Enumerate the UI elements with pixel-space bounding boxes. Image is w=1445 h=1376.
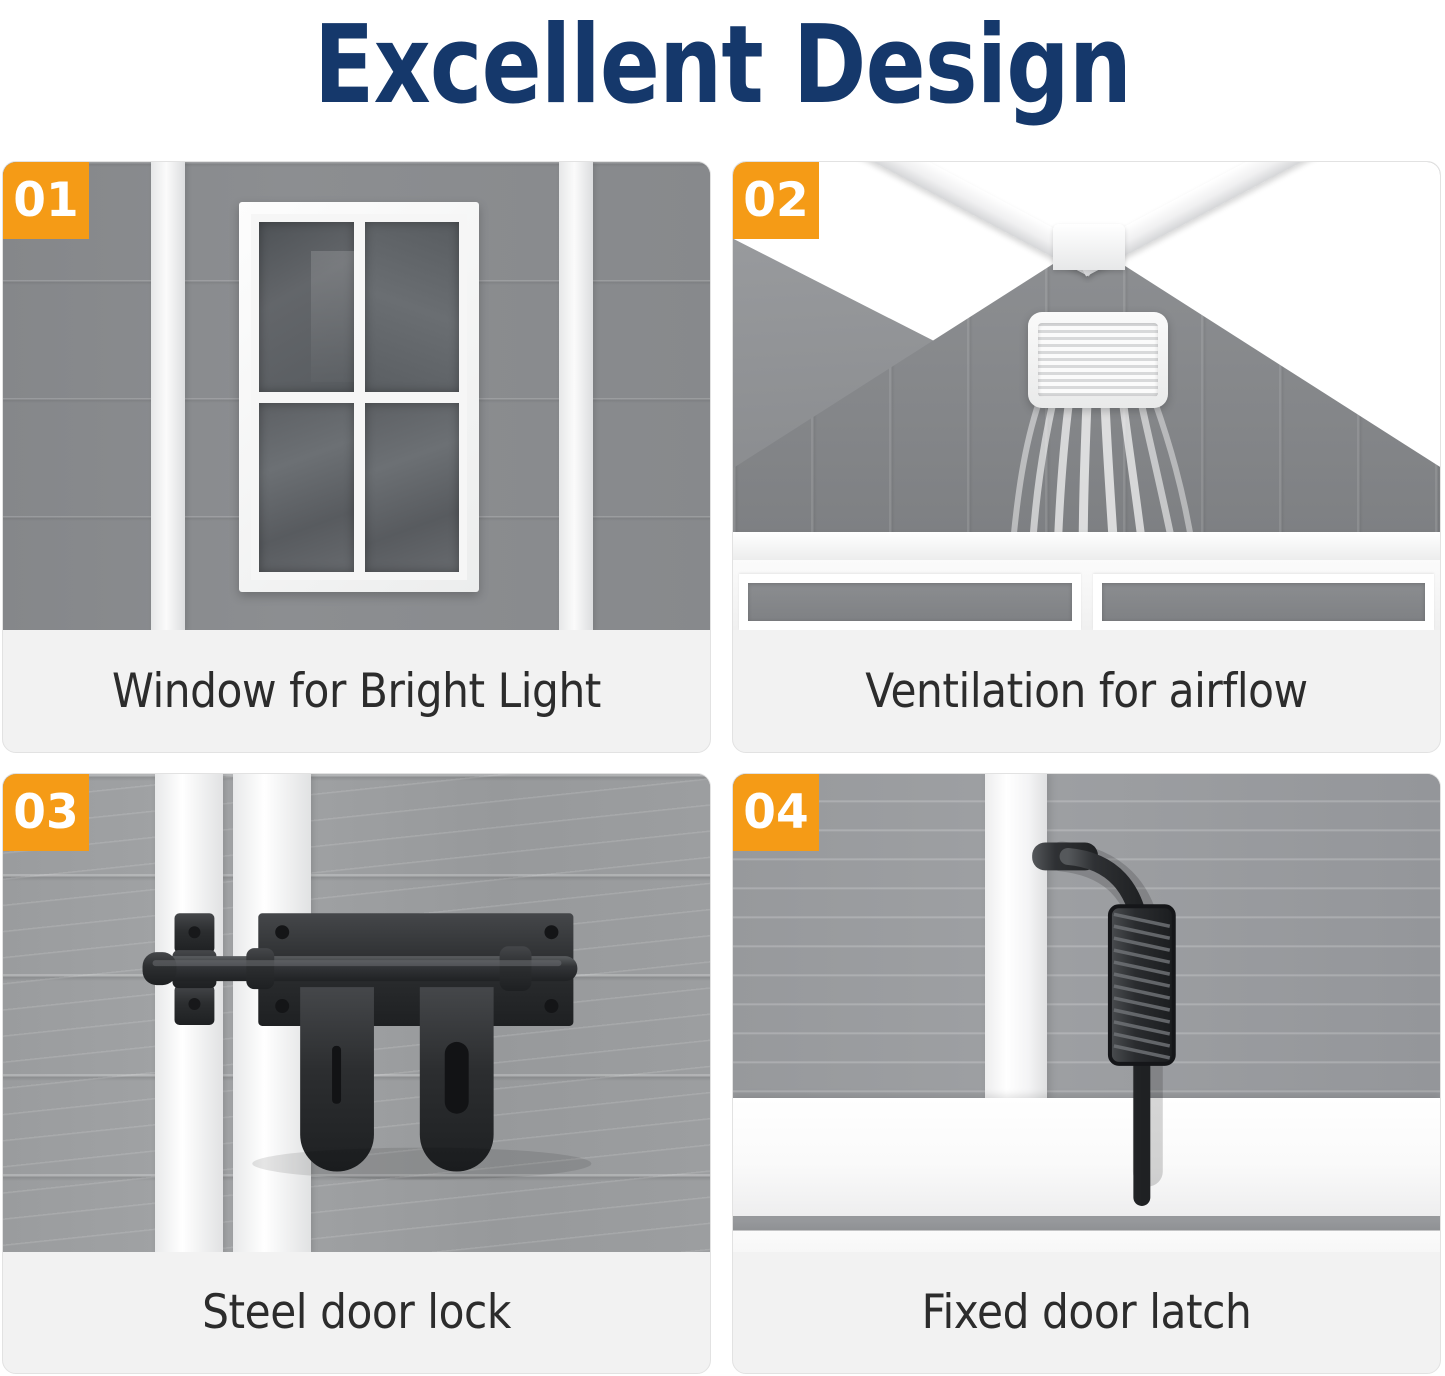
feature-card-door-latch[interactable]: 04 Fixed door latch	[732, 773, 1441, 1374]
window-pane	[259, 222, 354, 392]
badge-number: 04	[733, 774, 819, 851]
door-panel	[739, 574, 1081, 630]
steel-bolt-lock-icon	[3, 774, 710, 1252]
badge-number: 01	[3, 162, 89, 239]
vertical-trim-strip	[151, 162, 185, 630]
roof-peak-cap	[1053, 224, 1125, 270]
window-pane	[365, 403, 460, 573]
steel-door-lock-photo: 03	[3, 774, 710, 1252]
window-pane	[365, 222, 460, 392]
feature-card-grid: 01 Window for Bright Light	[2, 161, 1441, 1374]
badge-number: 02	[733, 162, 819, 239]
badge-number: 03	[3, 774, 89, 851]
card-caption: Window for Bright Light	[38, 630, 674, 752]
feature-card-door-lock[interactable]: 03 Steel door lock	[2, 773, 711, 1374]
feature-card-ventilation[interactable]: 02 Ventilation for airflow	[732, 161, 1441, 753]
door-panel	[1093, 574, 1435, 630]
vent-louvers	[1038, 323, 1158, 397]
page-title: Excellent Design	[130, 4, 1315, 128]
window-pane	[259, 403, 354, 573]
shed-window-photo: 01	[3, 162, 710, 630]
card-caption: Ventilation for airflow	[768, 630, 1404, 752]
vent-housing	[1028, 312, 1168, 408]
drop-rod-latch-icon	[733, 774, 1440, 1252]
coil-spring	[1110, 906, 1174, 1064]
door-panels	[733, 560, 1440, 630]
infographic-page: Excellent Design 01	[0, 0, 1445, 1376]
shed-vent-photo: 02	[733, 162, 1440, 630]
card-caption: Fixed door latch	[768, 1252, 1404, 1373]
card-caption: Steel door lock	[38, 1252, 674, 1373]
window-panes	[251, 214, 467, 580]
glass-reflection	[311, 251, 359, 383]
horizontal-trim-band	[733, 532, 1440, 560]
fixed-door-latch-photo: 04	[733, 774, 1440, 1252]
window-frame	[239, 202, 479, 592]
feature-card-window[interactable]: 01 Window for Bright Light	[2, 161, 711, 753]
vertical-trim-strip	[559, 162, 593, 630]
